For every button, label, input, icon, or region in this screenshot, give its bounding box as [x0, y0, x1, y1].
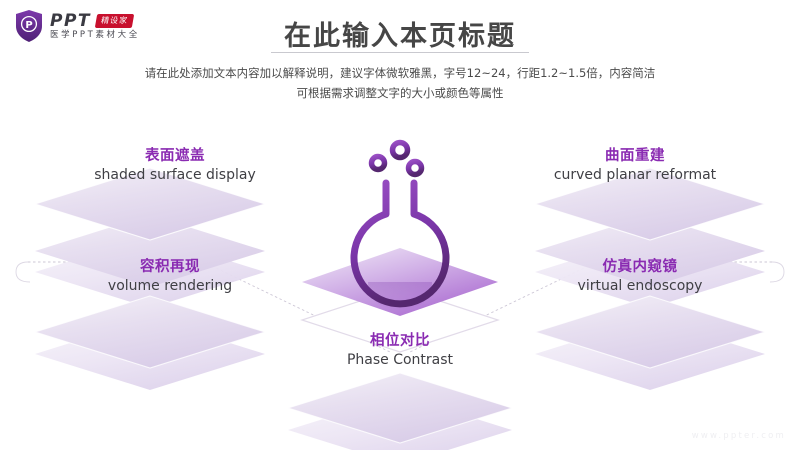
diagram-stage	[0, 0, 800, 450]
node-en-title: Phase Contrast	[285, 351, 515, 370]
plate-stack-volume-rendering[interactable]	[35, 296, 265, 390]
node-en-title: shaded surface display	[60, 166, 290, 185]
node-label-volume-rendering[interactable]: 容积再现 volume rendering	[55, 258, 285, 296]
diagram-graphics	[0, 0, 800, 450]
node-en-title: curved planar reformat	[520, 166, 750, 185]
node-cn-title: 容积再现	[55, 258, 285, 277]
node-label-virtual-endoscopy[interactable]: 仿真内窥镜 virtual endoscopy	[525, 258, 755, 296]
node-label-shaded-surface-display[interactable]: 表面遮盖 shaded surface display	[60, 147, 290, 185]
plate-stack-virtual-endoscopy[interactable]	[535, 296, 765, 390]
node-en-title: virtual endoscopy	[525, 277, 755, 296]
node-cn-title: 相位对比	[285, 332, 515, 351]
node-cn-title: 仿真内窥镜	[525, 258, 755, 277]
node-en-title: volume rendering	[55, 277, 285, 296]
flask-bubbles-icon	[372, 143, 422, 175]
node-cn-title: 表面遮盖	[60, 147, 290, 166]
node-cn-title: 曲面重建	[520, 147, 750, 166]
node-label-phase-contrast[interactable]: 相位对比 Phase Contrast	[285, 332, 515, 370]
node-label-curved-planar-reformat[interactable]: 曲面重建 curved planar reformat	[520, 147, 750, 185]
plate-stack-phase-contrast[interactable]	[288, 373, 512, 450]
site-watermark: www.ppter.com	[692, 431, 786, 441]
